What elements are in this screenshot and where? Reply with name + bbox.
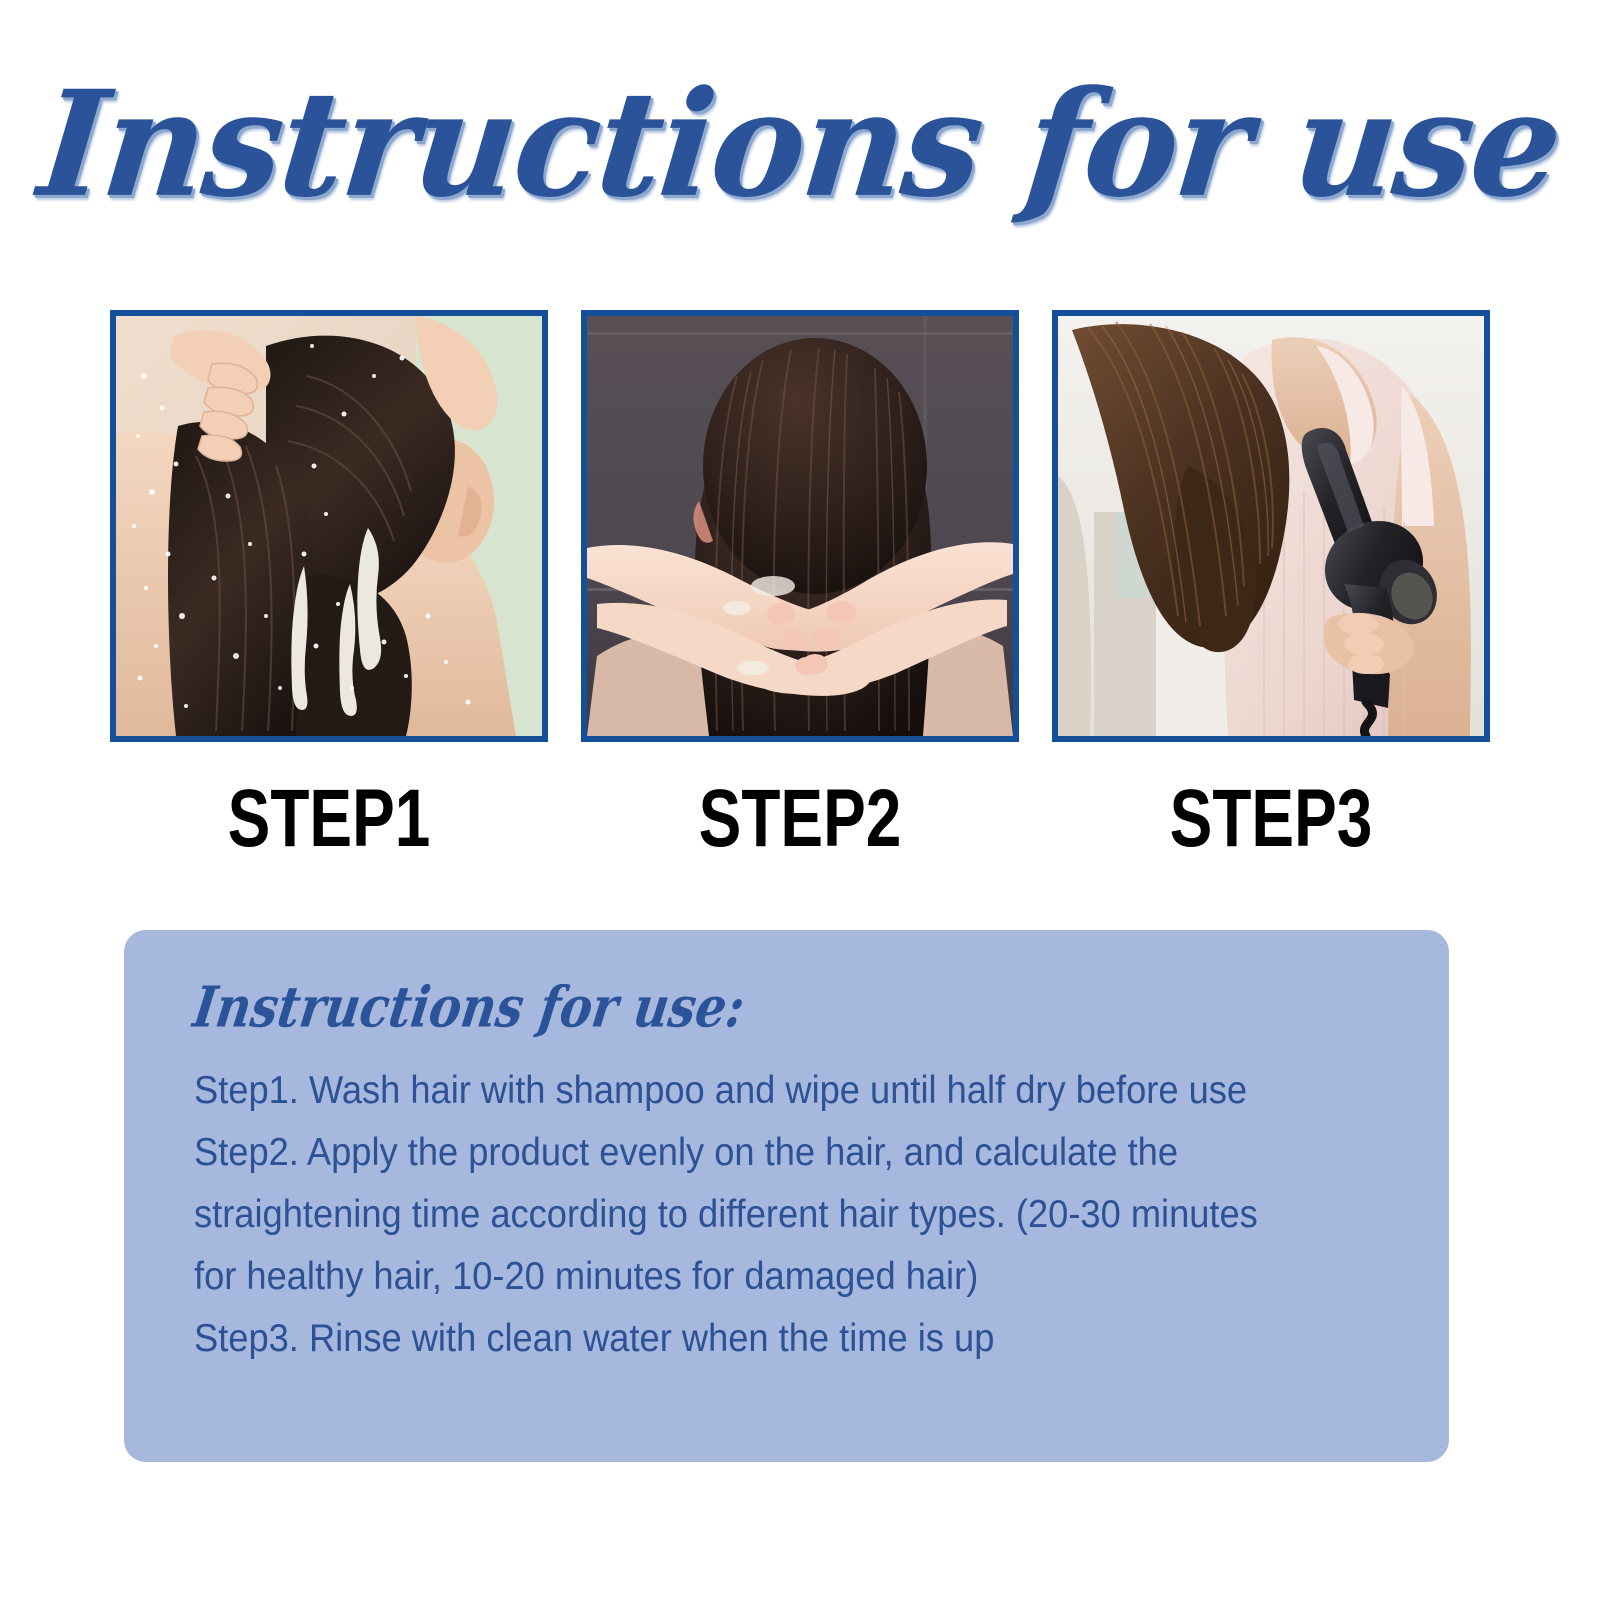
step-column-1: STEP1 — [110, 310, 548, 860]
instruction-line-3: Step3. Rinse with clean water when the t… — [194, 1308, 1307, 1370]
instructions-heading: Instructions for use: — [190, 980, 1299, 1036]
steps-row: STEP1 — [110, 310, 1490, 860]
page-title-container: Instructions for use — [0, 72, 1600, 219]
instructions-page: Instructions for use — [0, 0, 1600, 1600]
apply-product-illustration — [587, 316, 1013, 736]
instructions-body: Step1. Wash hair with shampoo and wipe u… — [194, 1060, 1307, 1370]
step-photo-1 — [110, 310, 548, 742]
hair-washing-illustration — [116, 316, 542, 736]
step-photo-2 — [581, 310, 1019, 742]
instructions-panel: Instructions for use: Step1. Wash hair w… — [124, 930, 1449, 1462]
step-label-1: STEP1 — [158, 778, 500, 860]
step-label-2: STEP2 — [629, 778, 971, 860]
instruction-line-1: Step1. Wash hair with shampoo and wipe u… — [194, 1060, 1307, 1122]
instruction-line-2: Step2. Apply the product evenly on the h… — [194, 1122, 1307, 1308]
step-column-3: STEP3 — [1052, 310, 1490, 860]
step-column-2: STEP2 — [581, 310, 1019, 860]
page-title: Instructions for use — [33, 69, 1567, 222]
step-photo-3 — [1052, 310, 1490, 742]
blow-dry-illustration — [1058, 316, 1484, 736]
step-label-3: STEP3 — [1100, 778, 1442, 860]
